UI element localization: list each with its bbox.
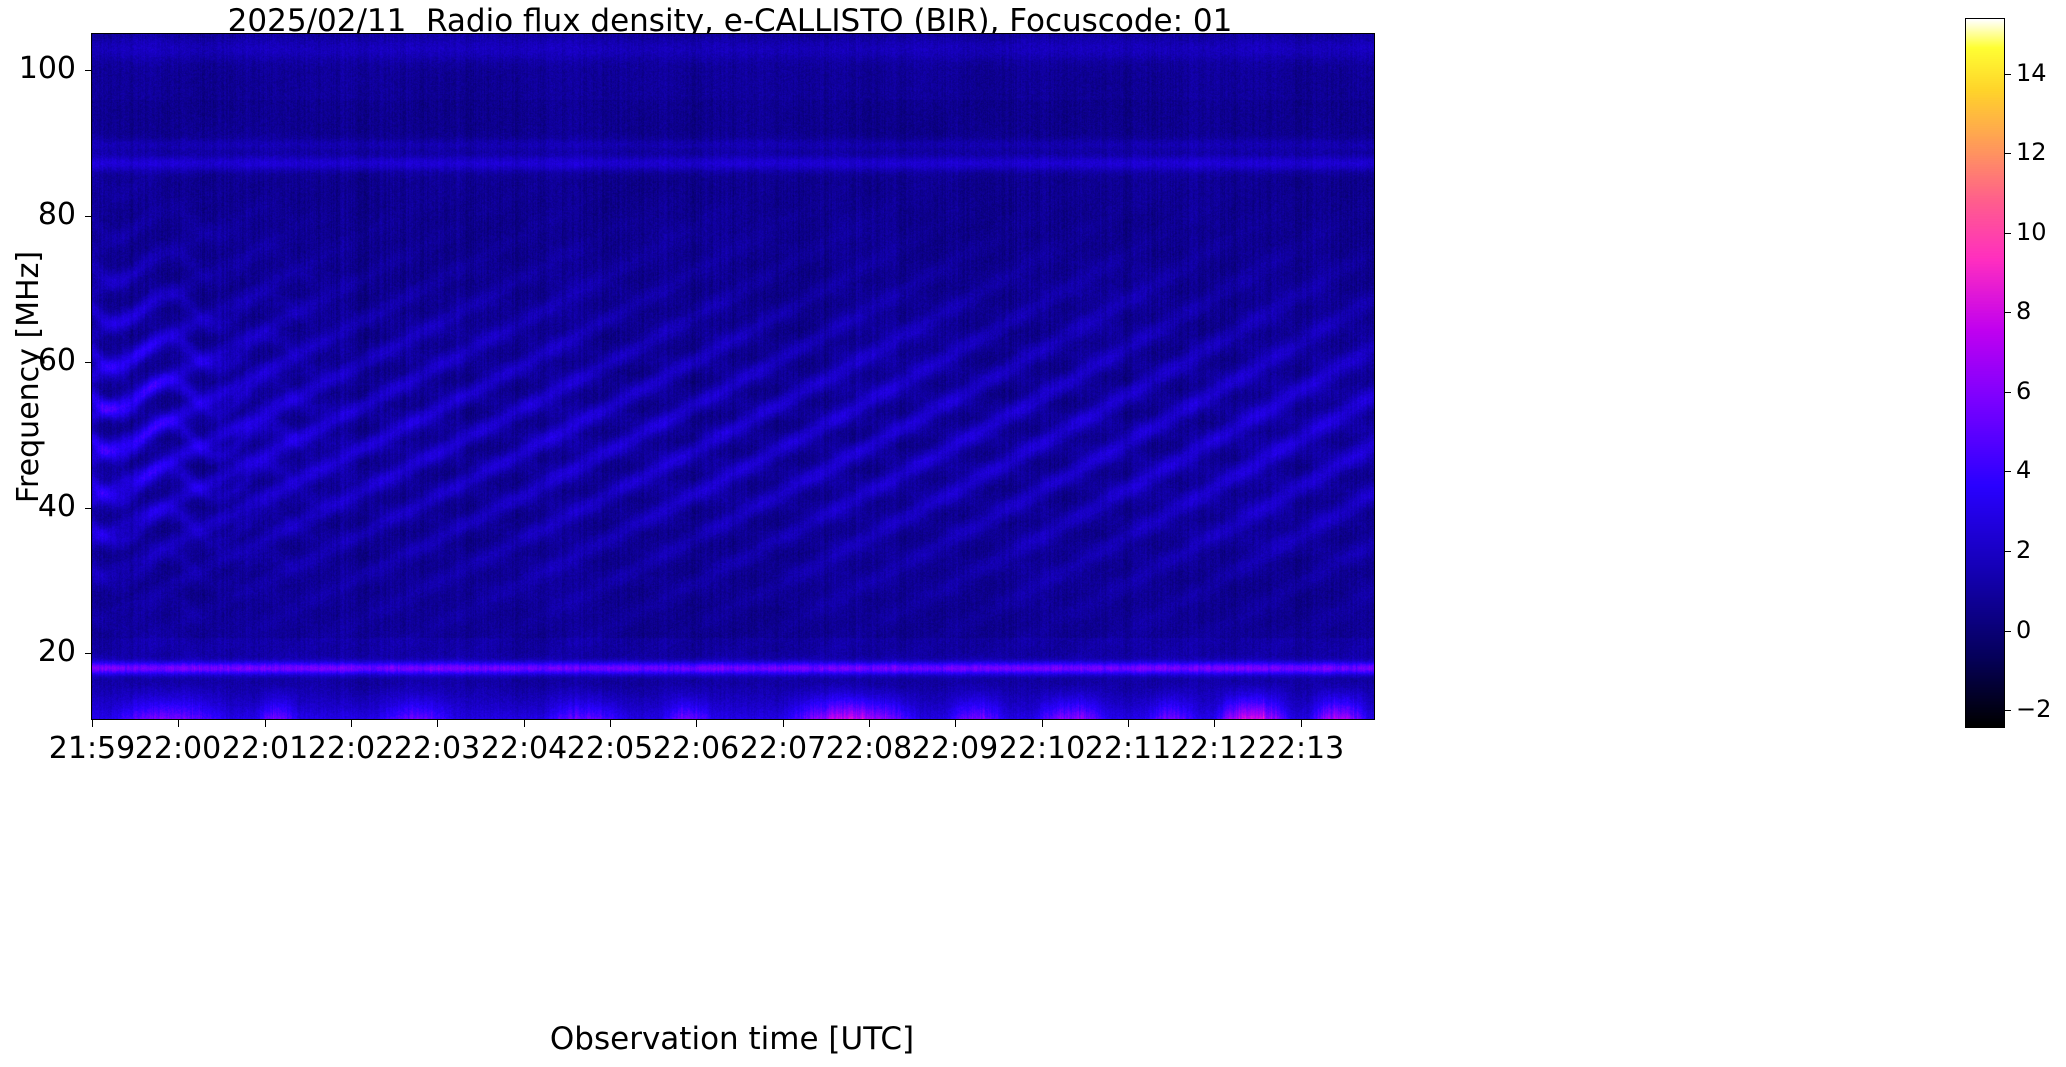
x-tick-mark (1042, 720, 1043, 727)
y-tick-label: 20 (0, 637, 76, 667)
x-tick-mark (696, 720, 697, 727)
x-tick-mark (265, 720, 266, 727)
colorbar-gradient (1966, 19, 2004, 727)
x-tick-mark (92, 720, 93, 727)
colorbar-tick-mark (2005, 153, 2011, 154)
colorbar-tick-label: 10 (2016, 220, 2047, 244)
x-tick-mark (783, 720, 784, 727)
x-tick-mark (524, 720, 525, 727)
spectrogram-image (92, 34, 1374, 719)
x-tick-label: 22:13 (1211, 733, 1391, 765)
x-tick-mark (1128, 720, 1129, 727)
y-tick-label: 80 (0, 200, 76, 230)
y-tick-mark (85, 362, 92, 363)
colorbar (1965, 18, 2005, 728)
colorbar-tick-mark (2005, 710, 2011, 711)
x-tick-mark (1301, 720, 1302, 727)
y-tick-label: 100 (0, 54, 76, 84)
colorbar-tick-mark (2005, 312, 2011, 313)
x-tick-mark (437, 720, 438, 727)
colorbar-tick-mark (2005, 74, 2011, 75)
colorbar-tick-label: −2 (2016, 697, 2051, 721)
colorbar-tick-mark (2005, 631, 2011, 632)
colorbar-tick-mark (2005, 551, 2011, 552)
y-tick-mark (85, 653, 92, 654)
x-tick-mark (869, 720, 870, 727)
x-axis-label: Observation time [UTC] (91, 1022, 1373, 1056)
colorbar-tick-label: 6 (2016, 379, 2031, 403)
colorbar-tick-label: 14 (2016, 61, 2047, 85)
y-tick-mark (85, 508, 92, 509)
x-tick-mark (178, 720, 179, 727)
x-tick-mark (955, 720, 956, 727)
x-tick-mark (1214, 720, 1215, 727)
y-tick-mark (85, 70, 92, 71)
colorbar-tick-mark (2005, 233, 2011, 234)
colorbar-tick-label: 12 (2016, 140, 2047, 164)
colorbar-tick-label: 0 (2016, 618, 2031, 642)
colorbar-tick-label: 4 (2016, 458, 2031, 482)
colorbar-tick-mark (2005, 392, 2011, 393)
spectrogram-figure: 2025/02/11 Radio flux density, e-CALLIST… (0, 0, 2066, 1067)
colorbar-tick-label: 8 (2016, 299, 2031, 323)
x-tick-mark (610, 720, 611, 727)
colorbar-tick-label: 2 (2016, 538, 2031, 562)
x-tick-mark (351, 720, 352, 727)
y-axis-label: Frequency [MHz] (14, 250, 44, 502)
spectrogram-plot-area (91, 33, 1375, 720)
colorbar-tick-mark (2005, 471, 2011, 472)
y-tick-mark (85, 216, 92, 217)
